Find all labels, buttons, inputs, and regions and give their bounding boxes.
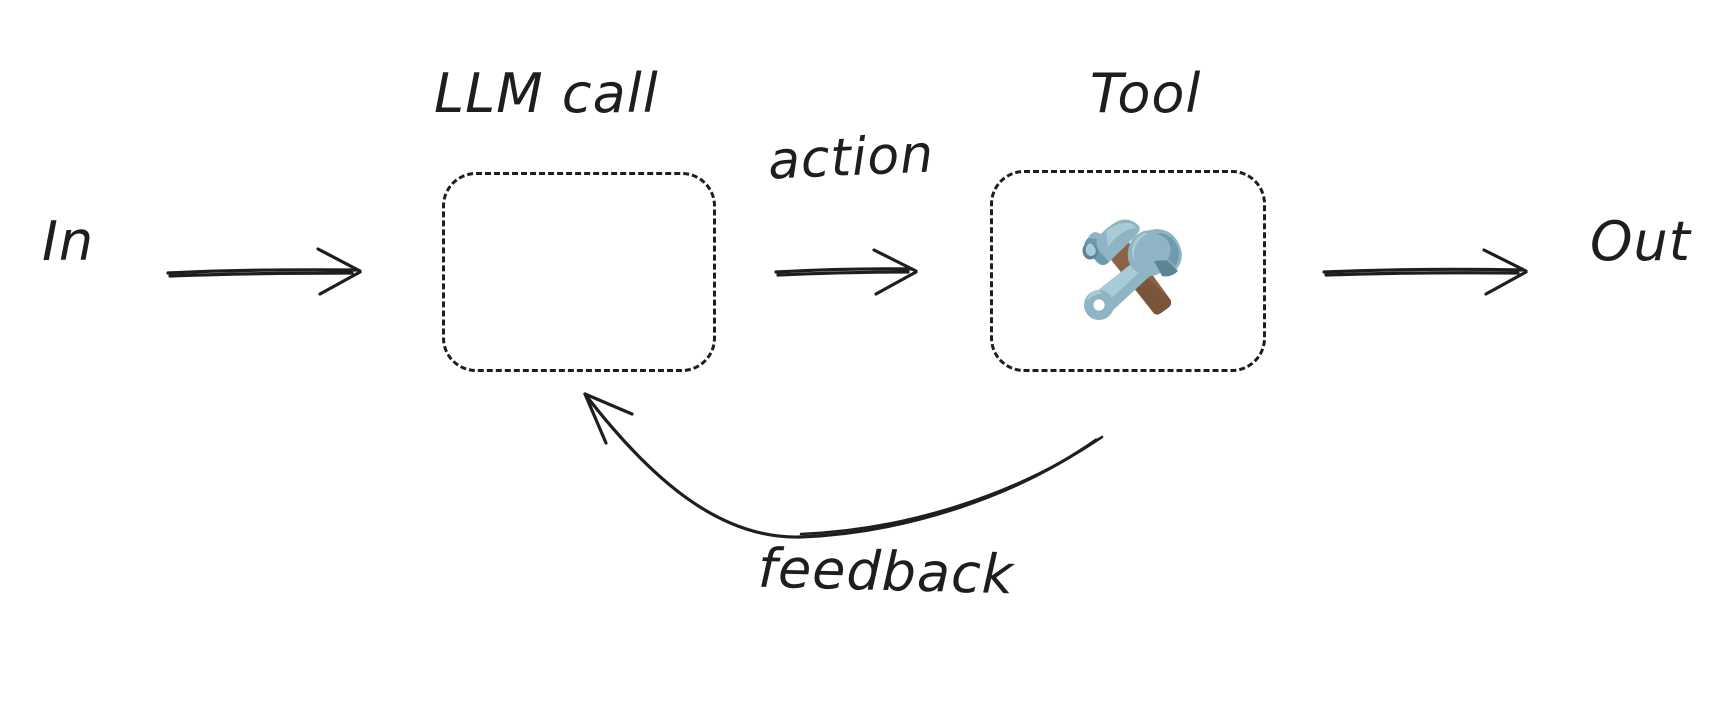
label-llm-call: LLM call <box>434 62 659 125</box>
arrow-tool-to-out <box>1324 250 1526 294</box>
diagram-canvas: In Out LLM call Tool action feedback <box>0 0 1732 712</box>
label-input: In <box>42 210 94 273</box>
arrow-llm-to-tool <box>776 250 916 294</box>
label-output: Out <box>1590 210 1691 273</box>
vector-overlay <box>0 0 1732 712</box>
node-llm-call[interactable] <box>442 172 716 372</box>
node-tool[interactable] <box>990 170 1266 372</box>
label-feedback: feedback <box>757 537 1015 607</box>
label-action: action <box>767 124 936 191</box>
arrow-in-to-llm <box>168 249 360 294</box>
label-tool: Tool <box>1090 62 1201 125</box>
arrow-feedback-tool-to-llm <box>585 394 1102 537</box>
hammer-and-wrench-icon <box>1066 209 1190 333</box>
